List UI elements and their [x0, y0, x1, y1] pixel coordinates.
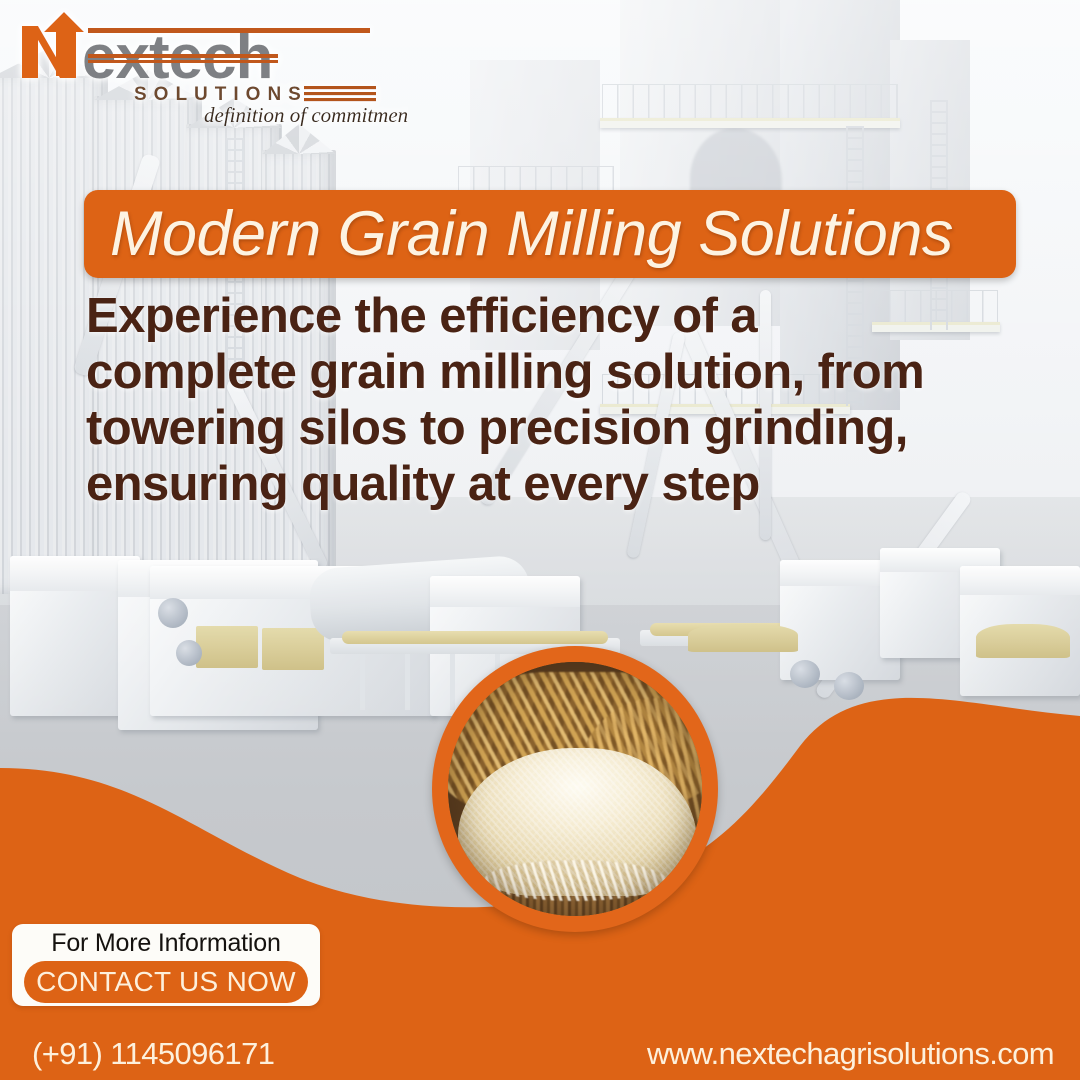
up-arrow-icon: [44, 12, 84, 76]
footer-bar: (+91) 1145096171 www.nextechagrisolution…: [0, 1028, 1080, 1080]
rice-photo: [448, 662, 702, 916]
logo-subtitle: SOLUTIONS: [134, 84, 308, 105]
body-paragraph: Experience the efficiency of a complete …: [86, 288, 926, 512]
logo-wordmark: extech SOLUTIONS definition of commitmen…: [22, 12, 408, 126]
contact-us-button[interactable]: CONTACT US NOW: [24, 961, 308, 1003]
website-url[interactable]: www.nextechagrisolutions.com: [647, 1036, 1054, 1072]
cta-label: For More Information: [20, 929, 312, 958]
cta-card[interactable]: For More Information CONTACT US NOW: [12, 924, 320, 1006]
logo-stripe: [304, 86, 376, 89]
headline-banner: Modern Grain Milling Solutions: [84, 190, 1016, 278]
logo-stripe: [304, 98, 376, 101]
logo-stripe: [88, 54, 278, 58]
logo-stripe: [304, 92, 376, 95]
phone-number[interactable]: (+91) 1145096171: [32, 1036, 274, 1072]
photo-vignette: [448, 662, 702, 916]
rice-photo-ring: [432, 646, 718, 932]
contact-us-button-label: CONTACT US NOW: [36, 966, 296, 998]
logo-tagline: definition of commitment: [204, 103, 408, 126]
page-title: Modern Grain Milling Solutions: [110, 198, 953, 270]
logo-stripe: [88, 60, 278, 63]
logo-stripe: [88, 28, 370, 33]
poster-canvas: extech SOLUTIONS definition of commitmen…: [0, 0, 1080, 1080]
company-logo[interactable]: extech SOLUTIONS definition of commitmen…: [8, 6, 408, 126]
